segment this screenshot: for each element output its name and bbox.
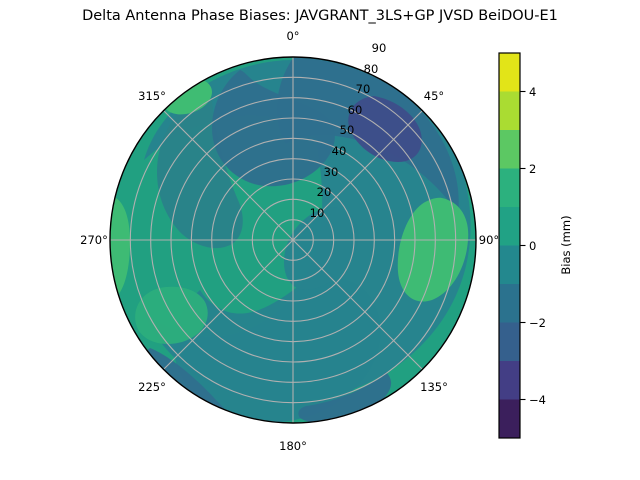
colorbar-band-8 xyxy=(499,92,520,131)
colorbar-label-2: 2 xyxy=(529,162,536,176)
contour-band-green-west xyxy=(86,196,130,301)
colorbar-band-4 xyxy=(499,246,520,285)
radial-label-30: 30 xyxy=(324,165,339,179)
colorbar-label-m4: −4 xyxy=(529,393,546,407)
colorbar-band-1 xyxy=(499,361,520,400)
radial-label-10: 10 xyxy=(310,206,325,220)
angular-label-135: 135° xyxy=(420,380,448,394)
angular-label-180: 180° xyxy=(279,439,307,453)
colorbar-tick-labels: 4 2 0 −2 −4 xyxy=(529,85,546,407)
radial-label-40: 40 xyxy=(332,144,347,158)
radial-label-90: 90 xyxy=(372,41,387,55)
polar-grid xyxy=(110,57,476,423)
radial-label-20: 20 xyxy=(317,185,332,199)
colorbar-axis-label: Bias (mm) xyxy=(559,215,573,274)
radial-label-80: 80 xyxy=(364,62,379,76)
colorbar-band-7 xyxy=(499,130,520,169)
colorbar-swatches xyxy=(499,53,520,438)
angular-label-225: 225° xyxy=(138,380,166,394)
colorbar-band-2 xyxy=(499,323,520,362)
colorbar-label-m2: −2 xyxy=(529,316,546,330)
colorbar[interactable]: 4 2 0 −2 −4 Bias (mm) xyxy=(499,53,573,438)
page-title: Delta Antenna Phase Biases: JAVGRANT_3LS… xyxy=(0,8,640,24)
radial-label-70: 70 xyxy=(356,82,371,96)
radial-label-60: 60 xyxy=(348,103,363,117)
angular-label-0: 0° xyxy=(286,29,299,43)
colorbar-label-4: 4 xyxy=(529,85,536,99)
colorbar-label-0: 0 xyxy=(529,239,536,253)
colorbar-band-3 xyxy=(499,284,520,323)
angular-label-315: 315° xyxy=(138,89,166,103)
angular-label-270: 270° xyxy=(80,233,108,247)
colorbar-band-5 xyxy=(499,207,520,246)
angular-label-45: 45° xyxy=(424,89,444,103)
colorbar-ticks xyxy=(520,92,526,400)
angular-label-90: 90° xyxy=(479,233,499,247)
colorbar-band-0 xyxy=(499,400,520,439)
figure-canvas: Delta Antenna Phase Biases: JAVGRANT_3LS… xyxy=(0,0,640,480)
colorbar-band-6 xyxy=(499,169,520,208)
radial-label-50: 50 xyxy=(340,123,355,137)
polar-contour-plot[interactable]: 0° 45° 90° 135° 180° 225° 270° 315° 10 2… xyxy=(0,0,640,480)
colorbar-band-9 xyxy=(499,53,520,92)
